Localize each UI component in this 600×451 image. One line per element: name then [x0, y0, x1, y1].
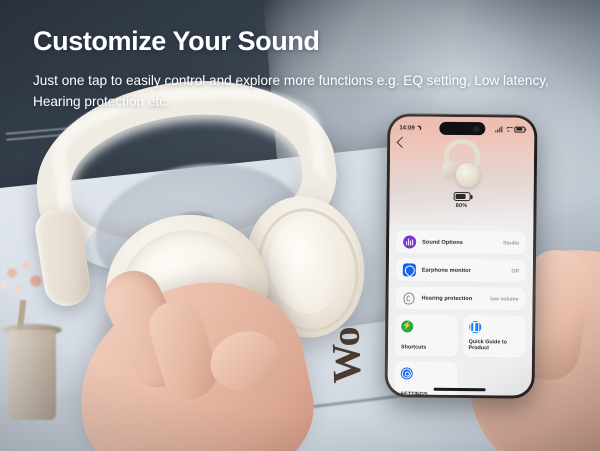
promo-banner: Wo 14:09 [0, 0, 600, 451]
page-title: Customize Your Sound [33, 26, 320, 57]
vignette-overlay [0, 0, 600, 451]
page-subtitle: Just one tap to easily control and explo… [33, 70, 568, 112]
